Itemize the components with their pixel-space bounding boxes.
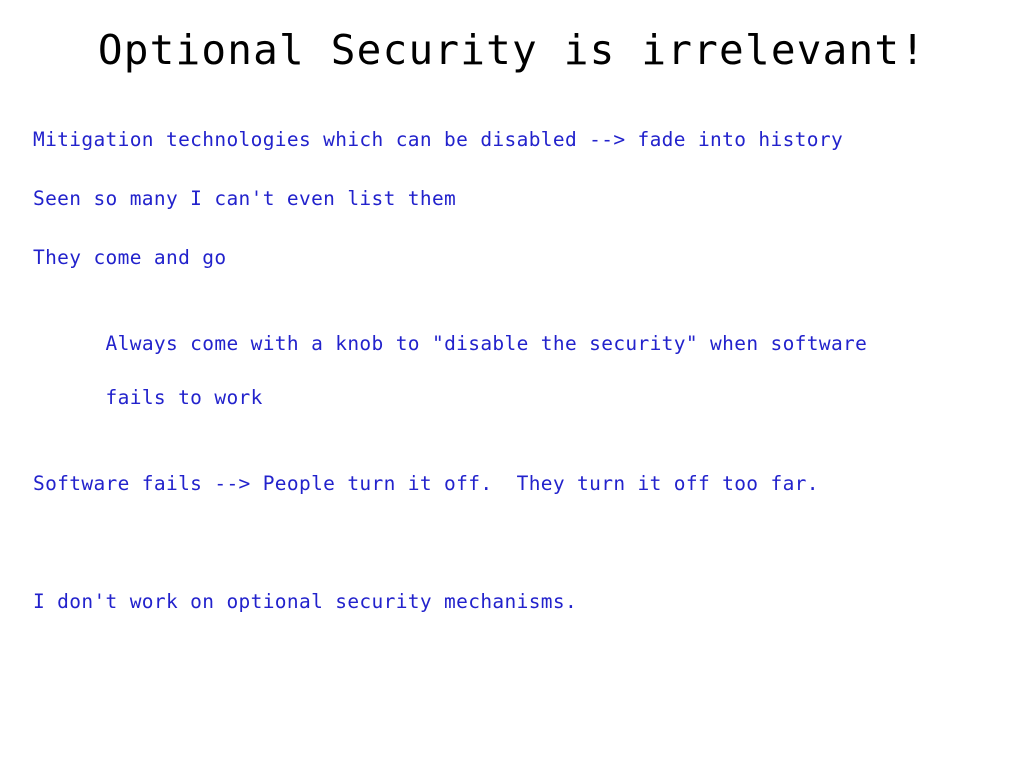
bullet-come-and-go: They come and go [33, 244, 993, 271]
slide: Optional Security is irrelevant! Mitigat… [0, 0, 1024, 768]
slide-title: Optional Security is irrelevant! [0, 26, 1024, 74]
bullet-seen-so-many: Seen so many I can't even list them [33, 185, 993, 212]
bullet-dont-work-optional: I don't work on optional security mechan… [33, 588, 993, 615]
bullet-disable-knob: Always come with a knob to "disable the … [33, 303, 993, 438]
bullet-disable-knob-line-2: fails to work [106, 386, 263, 409]
bullet-disable-knob-line-1: Always come with a knob to "disable the … [106, 332, 868, 355]
bullet-software-fails: Software fails --> People turn it off. T… [33, 470, 993, 497]
bullet-blank-spacer [33, 529, 993, 556]
bullet-mitigation-technologies: Mitigation technologies which can be dis… [33, 126, 993, 153]
slide-body: Mitigation technologies which can be dis… [33, 126, 993, 615]
